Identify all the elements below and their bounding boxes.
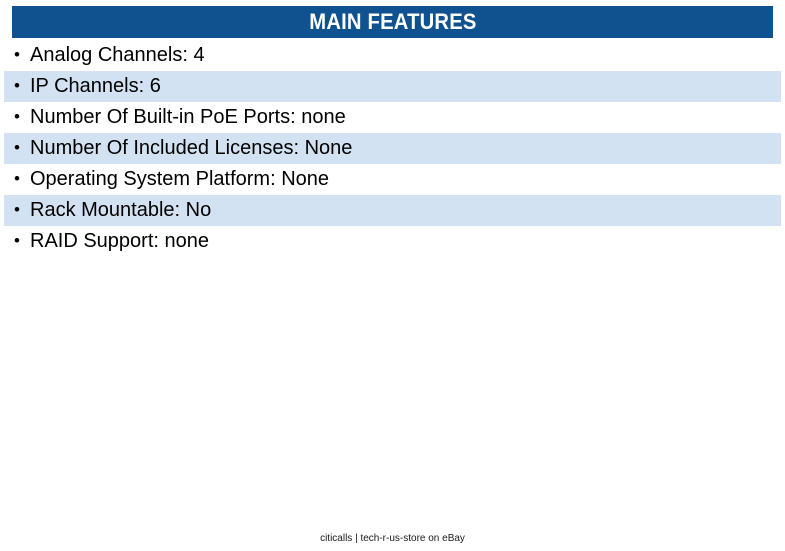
list-item-label: RAID Support: none [30,231,209,253]
bullet-icon: • [14,232,30,251]
bullet-icon: • [14,77,30,96]
bullet-icon: • [14,46,30,65]
page-title: MAIN FEATURES [309,11,476,33]
main-features-sheet: MAIN FEATURES • Analog Channels: 4 • IP … [0,0,785,551]
list-item-label: Number Of Included Licenses: None [30,138,352,160]
bullet-icon: • [14,108,30,127]
list-item: • Rack Mountable: No [4,195,781,226]
bullet-icon: • [14,139,30,158]
list-item: • Number Of Included Licenses: None [4,133,781,164]
list-item: • Operating System Platform: None [4,164,781,195]
list-item-label: Rack Mountable: No [30,200,211,222]
footer: citicalls | tech-r-us-store on eBay [0,528,785,546]
list-item-label: IP Channels: 6 [30,76,161,98]
list-item-label: Analog Channels: 4 [30,45,205,67]
features-list: • Analog Channels: 4 • IP Channels: 6 • … [4,40,781,257]
list-item: • Number Of Built-in PoE Ports: none [4,102,781,133]
main-features-header: MAIN FEATURES [12,6,773,38]
bullet-icon: • [14,201,30,220]
bullet-icon: • [14,170,30,189]
list-item: • RAID Support: none [4,226,781,257]
list-item: • IP Channels: 6 [4,71,781,102]
list-item-label: Operating System Platform: None [30,169,329,191]
list-item-label: Number Of Built-in PoE Ports: none [30,107,346,129]
footer-attribution: citicalls | tech-r-us-store on eBay [320,533,465,544]
list-item: • Analog Channels: 4 [4,40,781,71]
